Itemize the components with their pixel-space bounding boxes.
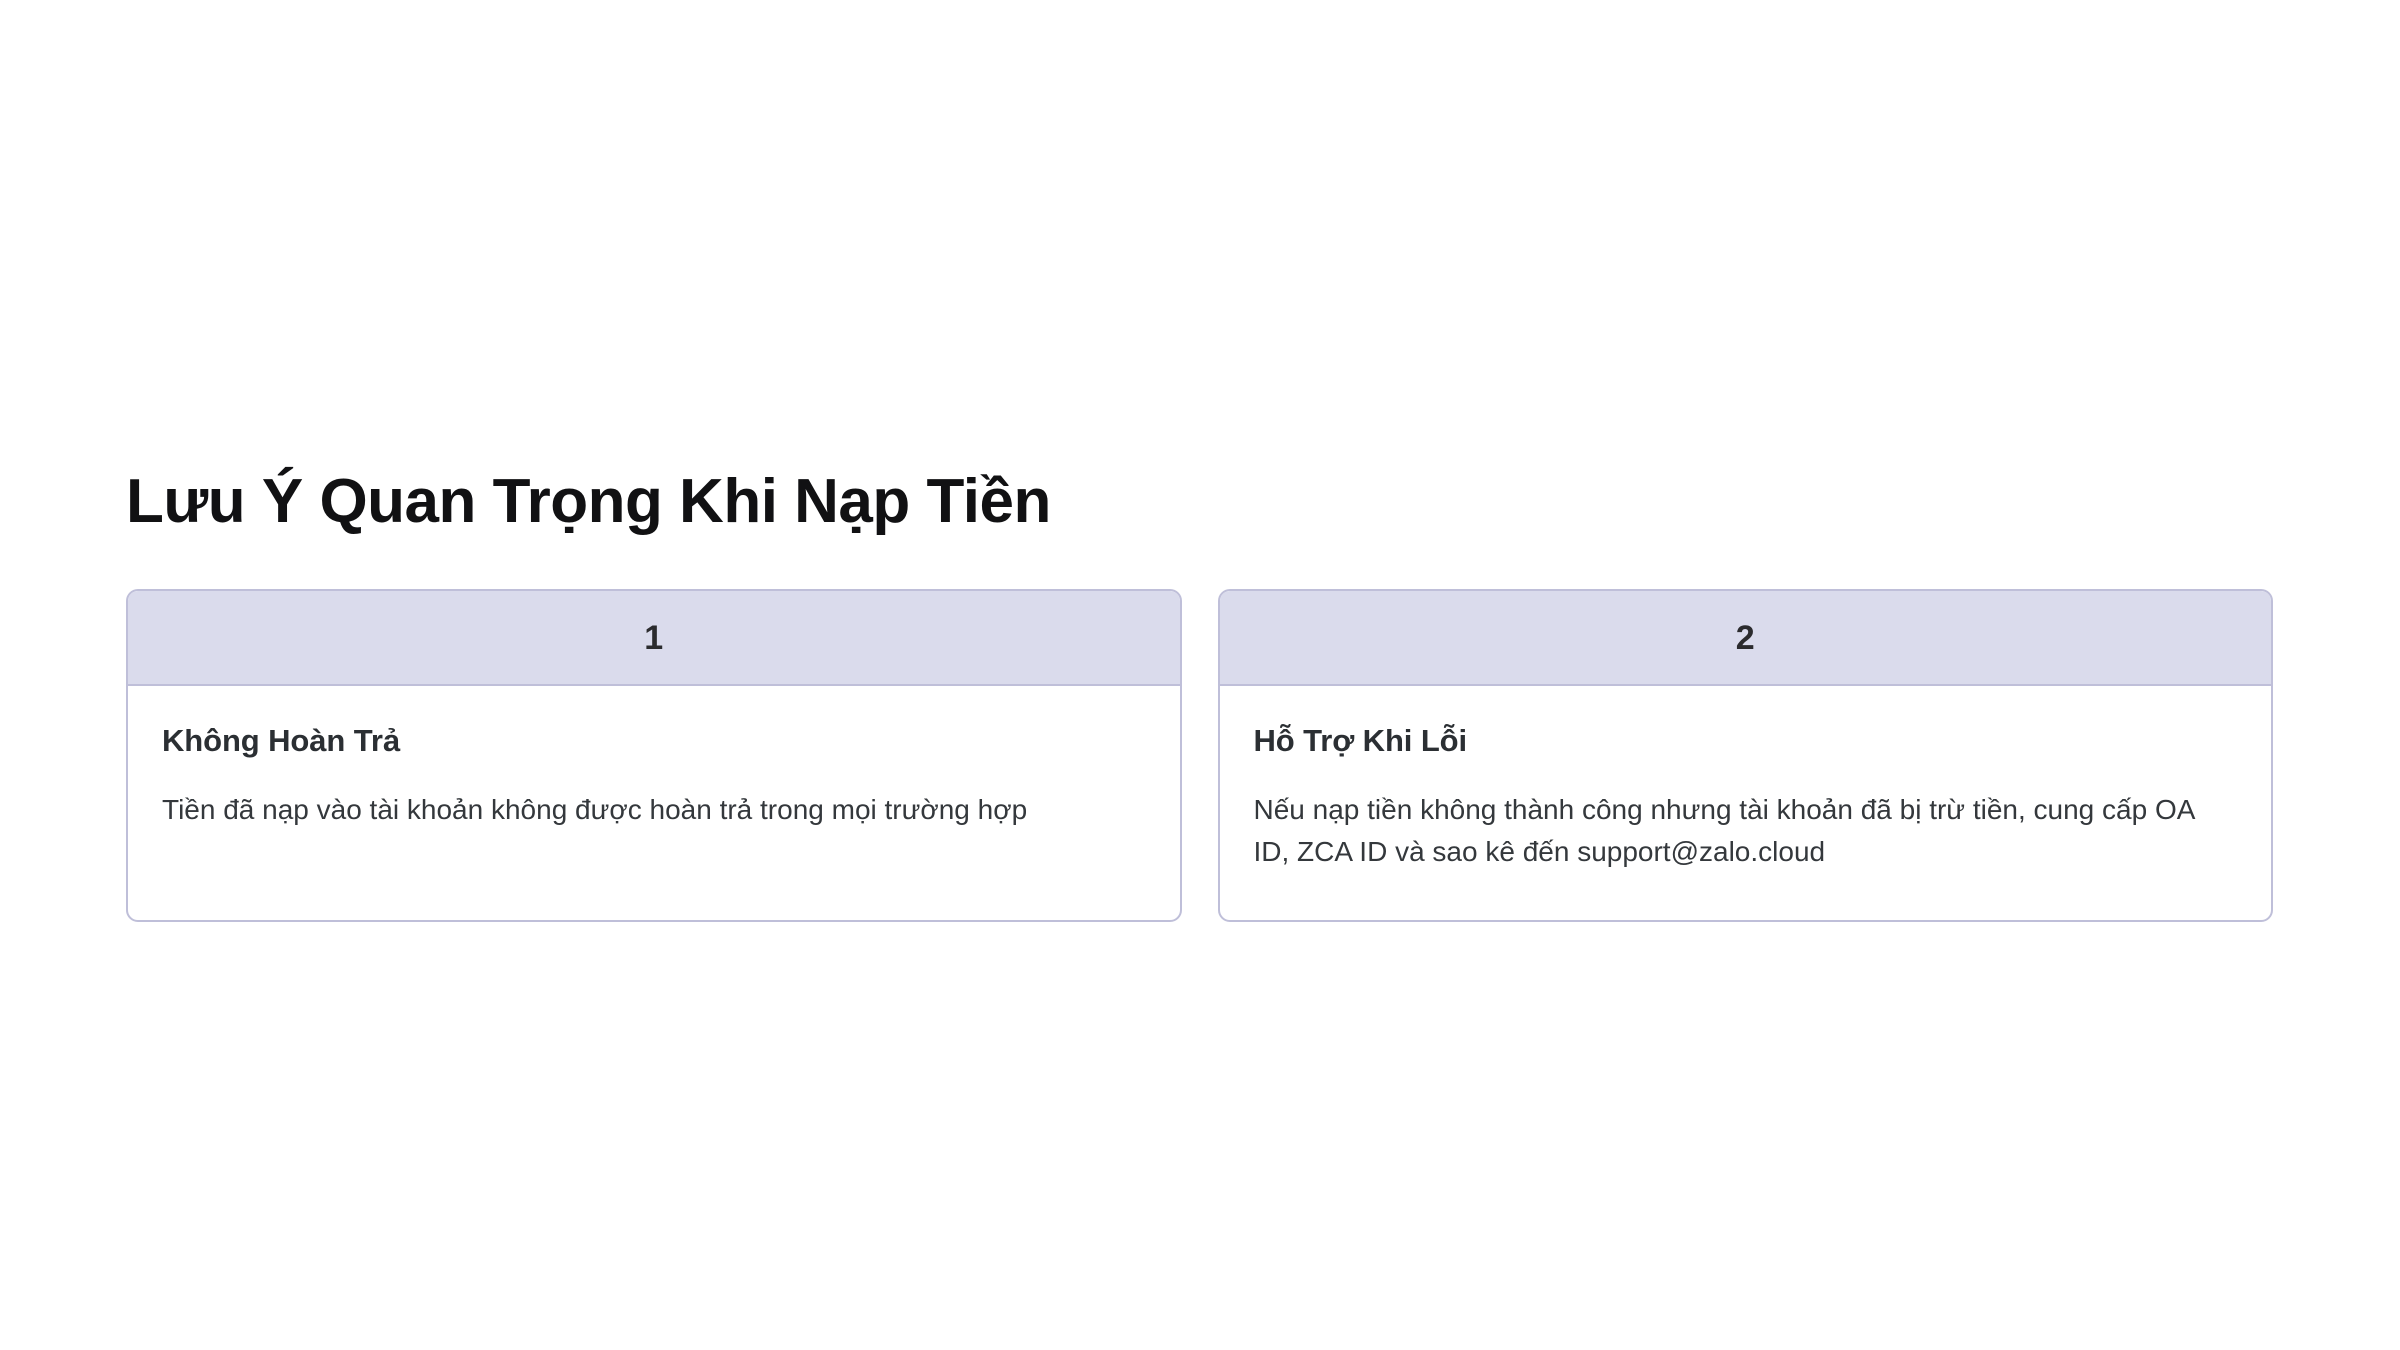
page-title: Lưu Ý Quan Trọng Khi Nạp Tiền bbox=[126, 465, 1051, 538]
notice-card-grid: 1 Không Hoàn Trả Tiền đã nạp vào tài kho… bbox=[126, 589, 2273, 922]
card-header: 2 bbox=[1220, 591, 2272, 686]
card-body: Hỗ Trợ Khi Lỗi Nếu nạp tiền không thành … bbox=[1220, 686, 2272, 920]
page-root: Lưu Ý Quan Trọng Khi Nạp Tiền 1 Không Ho… bbox=[0, 0, 2400, 1350]
notice-card: 1 Không Hoàn Trả Tiền đã nạp vào tài kho… bbox=[126, 589, 1182, 922]
notice-card: 2 Hỗ Trợ Khi Lỗi Nếu nạp tiền không thàn… bbox=[1218, 589, 2274, 922]
card-description: Tiền đã nạp vào tài khoản không được hoà… bbox=[162, 789, 1146, 832]
card-heading: Hỗ Trợ Khi Lỗi bbox=[1254, 722, 2238, 761]
card-body: Không Hoàn Trả Tiền đã nạp vào tài khoản… bbox=[128, 686, 1180, 920]
card-header: 1 bbox=[128, 591, 1180, 686]
card-number-badge: 2 bbox=[1736, 621, 1755, 655]
card-heading: Không Hoàn Trả bbox=[162, 722, 1146, 761]
card-number-badge: 1 bbox=[644, 621, 663, 655]
card-description: Nếu nạp tiền không thành công nhưng tài … bbox=[1254, 789, 2238, 874]
